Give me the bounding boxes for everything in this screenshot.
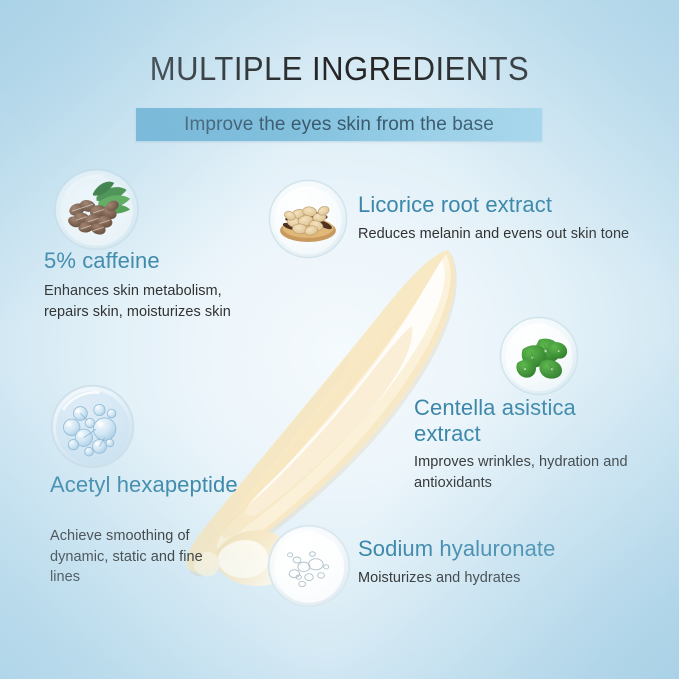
blue-bubbles-dish-icon — [49, 384, 136, 469]
ingredient-name-sodium: Sodium hyaluronate — [358, 536, 638, 562]
ingredient-description-caffeine: Enhances skin metabolism, repairs skin, … — [44, 281, 244, 322]
centella-leaves-dish-icon — [497, 315, 581, 397]
ingredient-name-acetyl: Acetyl hexapeptide — [50, 472, 240, 498]
ingredient-description-licorice: Reduces melanin and evens out skin tone — [358, 224, 658, 245]
subtitle-text: Improve the eyes skin from the base — [136, 108, 542, 141]
water-bubbles-dish-icon — [266, 524, 352, 608]
licorice-root-dish-icon — [267, 178, 349, 260]
page-title: MULTIPLE INGREDIENTS — [20, 50, 658, 88]
ingredient-description-acetyl: Achieve smoothing of dynamic, static and… — [50, 526, 230, 588]
coffee-beans-dish-icon — [52, 167, 141, 252]
ingredient-name-licorice: Licorice root extract — [358, 192, 638, 218]
ingredient-description-centella: Improves wrinkles, hydration and antioxi… — [414, 452, 634, 493]
ingredients-infographic: MULTIPLE INGREDIENTS Improve the eyes sk… — [0, 0, 679, 679]
ingredient-name-centella: Centella asistica extract — [414, 395, 624, 446]
ingredient-name-caffeine: 5% caffeine — [44, 248, 264, 274]
ingredient-description-sodium: Moisturizes and hydrates — [358, 568, 638, 589]
